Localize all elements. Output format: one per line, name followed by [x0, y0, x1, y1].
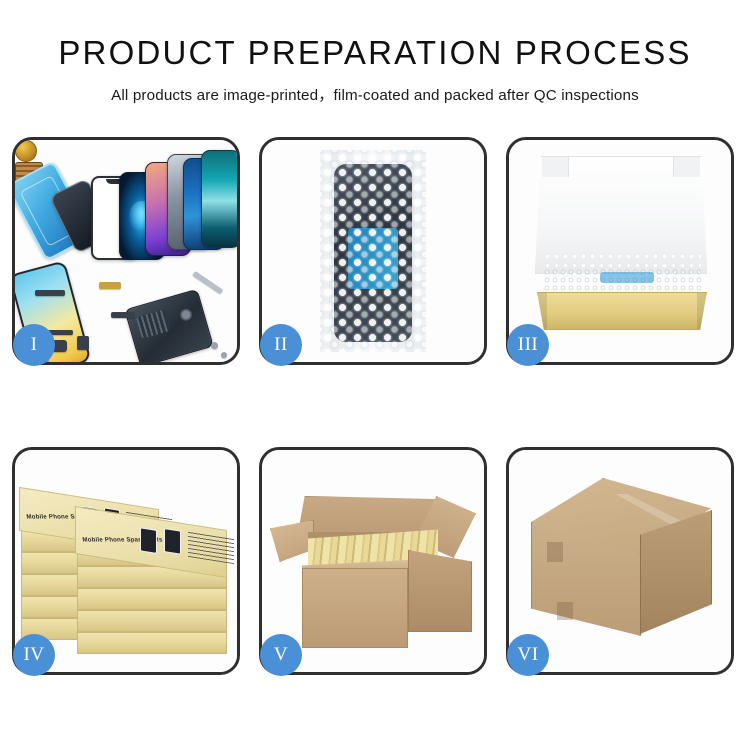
step-panel-2: II — [259, 137, 487, 365]
carton-tab-lower — [557, 602, 573, 620]
box-spec-lines-front — [188, 531, 234, 564]
box-phone-image-f1 — [140, 527, 157, 554]
flex-cable-icon-1 — [35, 290, 65, 296]
step-panel-1: I — [12, 137, 240, 365]
stacked-box-r4 — [77, 610, 227, 632]
step-badge-1: I — [13, 324, 55, 366]
carton-front-face — [302, 568, 408, 648]
bubble-texture-back — [320, 150, 426, 352]
page-title: PRODUCT PREPARATION PROCESS — [0, 34, 750, 72]
phone-chassis-icon — [124, 289, 214, 362]
flex-cable-icon-3 — [99, 282, 121, 289]
button-flex-icon — [111, 312, 135, 318]
page-subtitle: All products are image-printed，film-coat… — [0, 83, 750, 105]
process-steps-grid: I II III — [12, 137, 738, 675]
camera-module-icon — [77, 336, 89, 350]
kraft-box-stack: Mobile Phone Spare Parts Mobile Phone Sp… — [19, 472, 235, 662]
step-badge-3: III — [507, 324, 549, 366]
step-badge-2: II — [260, 324, 302, 366]
screw-icon-1 — [211, 342, 218, 349]
bubble-wrap-bag — [320, 150, 426, 352]
box-phone-image-f2 — [164, 528, 181, 555]
product-preparation-infographic: PRODUCT PREPARATION PROCESS All products… — [0, 0, 750, 750]
step-panel-6: VI — [506, 447, 734, 675]
step-panel-5: V — [259, 447, 487, 675]
step-panel-3: III — [506, 137, 734, 365]
stacked-box-r3 — [77, 588, 227, 610]
screw-icon-2 — [221, 352, 227, 358]
step-badge-6: VI — [507, 634, 549, 676]
teal-phone-icon — [201, 150, 237, 248]
carton-tab-upper — [547, 542, 563, 562]
stacked-box-r5 — [77, 632, 227, 654]
header: PRODUCT PREPARATION PROCESS All products… — [0, 0, 750, 105]
step-panel-4: Mobile Phone Spare Parts Mobile Phone Sp… — [12, 447, 240, 675]
speaker-module-icon — [15, 140, 37, 162]
step-badge-5: V — [260, 634, 302, 676]
kraft-box-base — [537, 292, 707, 330]
carton-side-face — [408, 550, 472, 632]
boxed-wrapped-part — [543, 268, 701, 296]
tweezers-icon — [193, 271, 224, 294]
step-badge-4: IV — [13, 634, 55, 676]
